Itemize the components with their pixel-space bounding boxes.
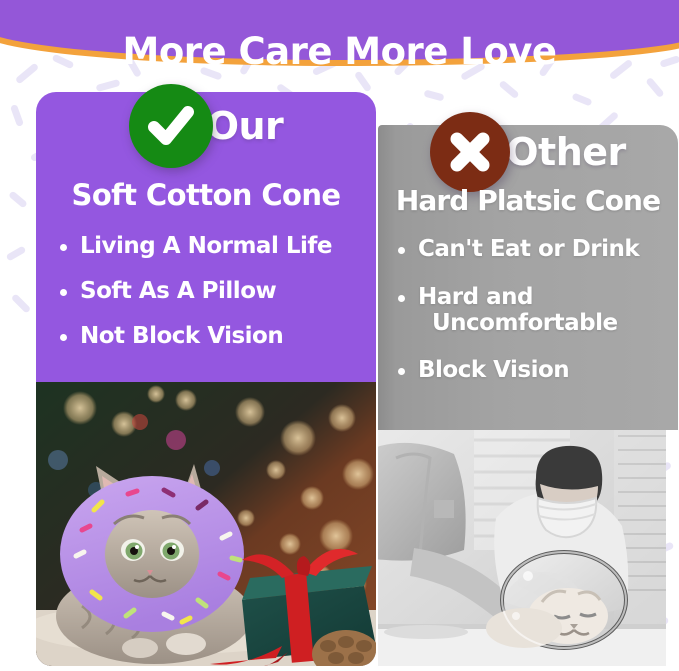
bullet-dot-icon bbox=[60, 244, 67, 251]
list-item: Can't Eat or Drink bbox=[398, 237, 678, 263]
bullet-dot-icon bbox=[60, 289, 67, 296]
confetti-dash bbox=[645, 77, 665, 98]
bullet-dot-icon bbox=[398, 247, 405, 254]
photo-other-product bbox=[378, 430, 666, 666]
confetti-dash bbox=[423, 90, 444, 102]
bullet-dot-icon bbox=[398, 368, 405, 375]
list-item-label: Living A Normal Life bbox=[80, 233, 332, 259]
list-item-label: Soft As A Pillow bbox=[80, 278, 276, 304]
list-item-label: Block Vision bbox=[418, 357, 569, 383]
confetti-dash bbox=[6, 245, 27, 261]
list-item: Living A Normal Life bbox=[60, 234, 375, 260]
photo-our-product bbox=[36, 378, 376, 666]
title-row-other: Other bbox=[378, 112, 678, 192]
product-comparison-infographic: More Care More Love Other Our Soft Cotto… bbox=[0, 0, 679, 671]
confetti-dash bbox=[11, 293, 32, 314]
confetti-dash bbox=[571, 93, 592, 107]
confetti-dash bbox=[10, 104, 24, 127]
page-title: More Care More Love bbox=[0, 30, 679, 73]
cross-circle-icon bbox=[430, 112, 510, 192]
feature-list-our: Living A Normal Life Soft As A Pillow No… bbox=[60, 234, 375, 368]
list-item: Not Block Vision bbox=[60, 324, 375, 350]
confetti-dash bbox=[8, 190, 28, 208]
card-title-our: Our bbox=[207, 107, 284, 145]
list-item-label: Can't Eat or Drink bbox=[418, 236, 639, 262]
bullet-dot-icon bbox=[60, 334, 67, 341]
list-item-label: Hard and bbox=[418, 284, 533, 310]
list-item: Hard andUncomfortable bbox=[398, 285, 678, 337]
list-item: Soft As A Pillow bbox=[60, 279, 375, 305]
card-heading-our: Soft Cotton Cone bbox=[36, 178, 376, 212]
card-heading-other: Hard Platsic Cone bbox=[378, 184, 678, 217]
title-row-our: Our bbox=[36, 84, 376, 168]
card-title-other: Other bbox=[506, 133, 626, 171]
list-item: Block Vision bbox=[398, 358, 678, 384]
list-item-label: Not Block Vision bbox=[80, 323, 283, 349]
list-item-label-line2: Uncomfortable bbox=[418, 311, 678, 337]
confetti-dash bbox=[498, 80, 519, 100]
check-circle-icon bbox=[129, 84, 213, 168]
bullet-dot-icon bbox=[398, 295, 405, 302]
feature-list-other: Can't Eat or Drink Hard andUncomfortable… bbox=[398, 237, 678, 406]
